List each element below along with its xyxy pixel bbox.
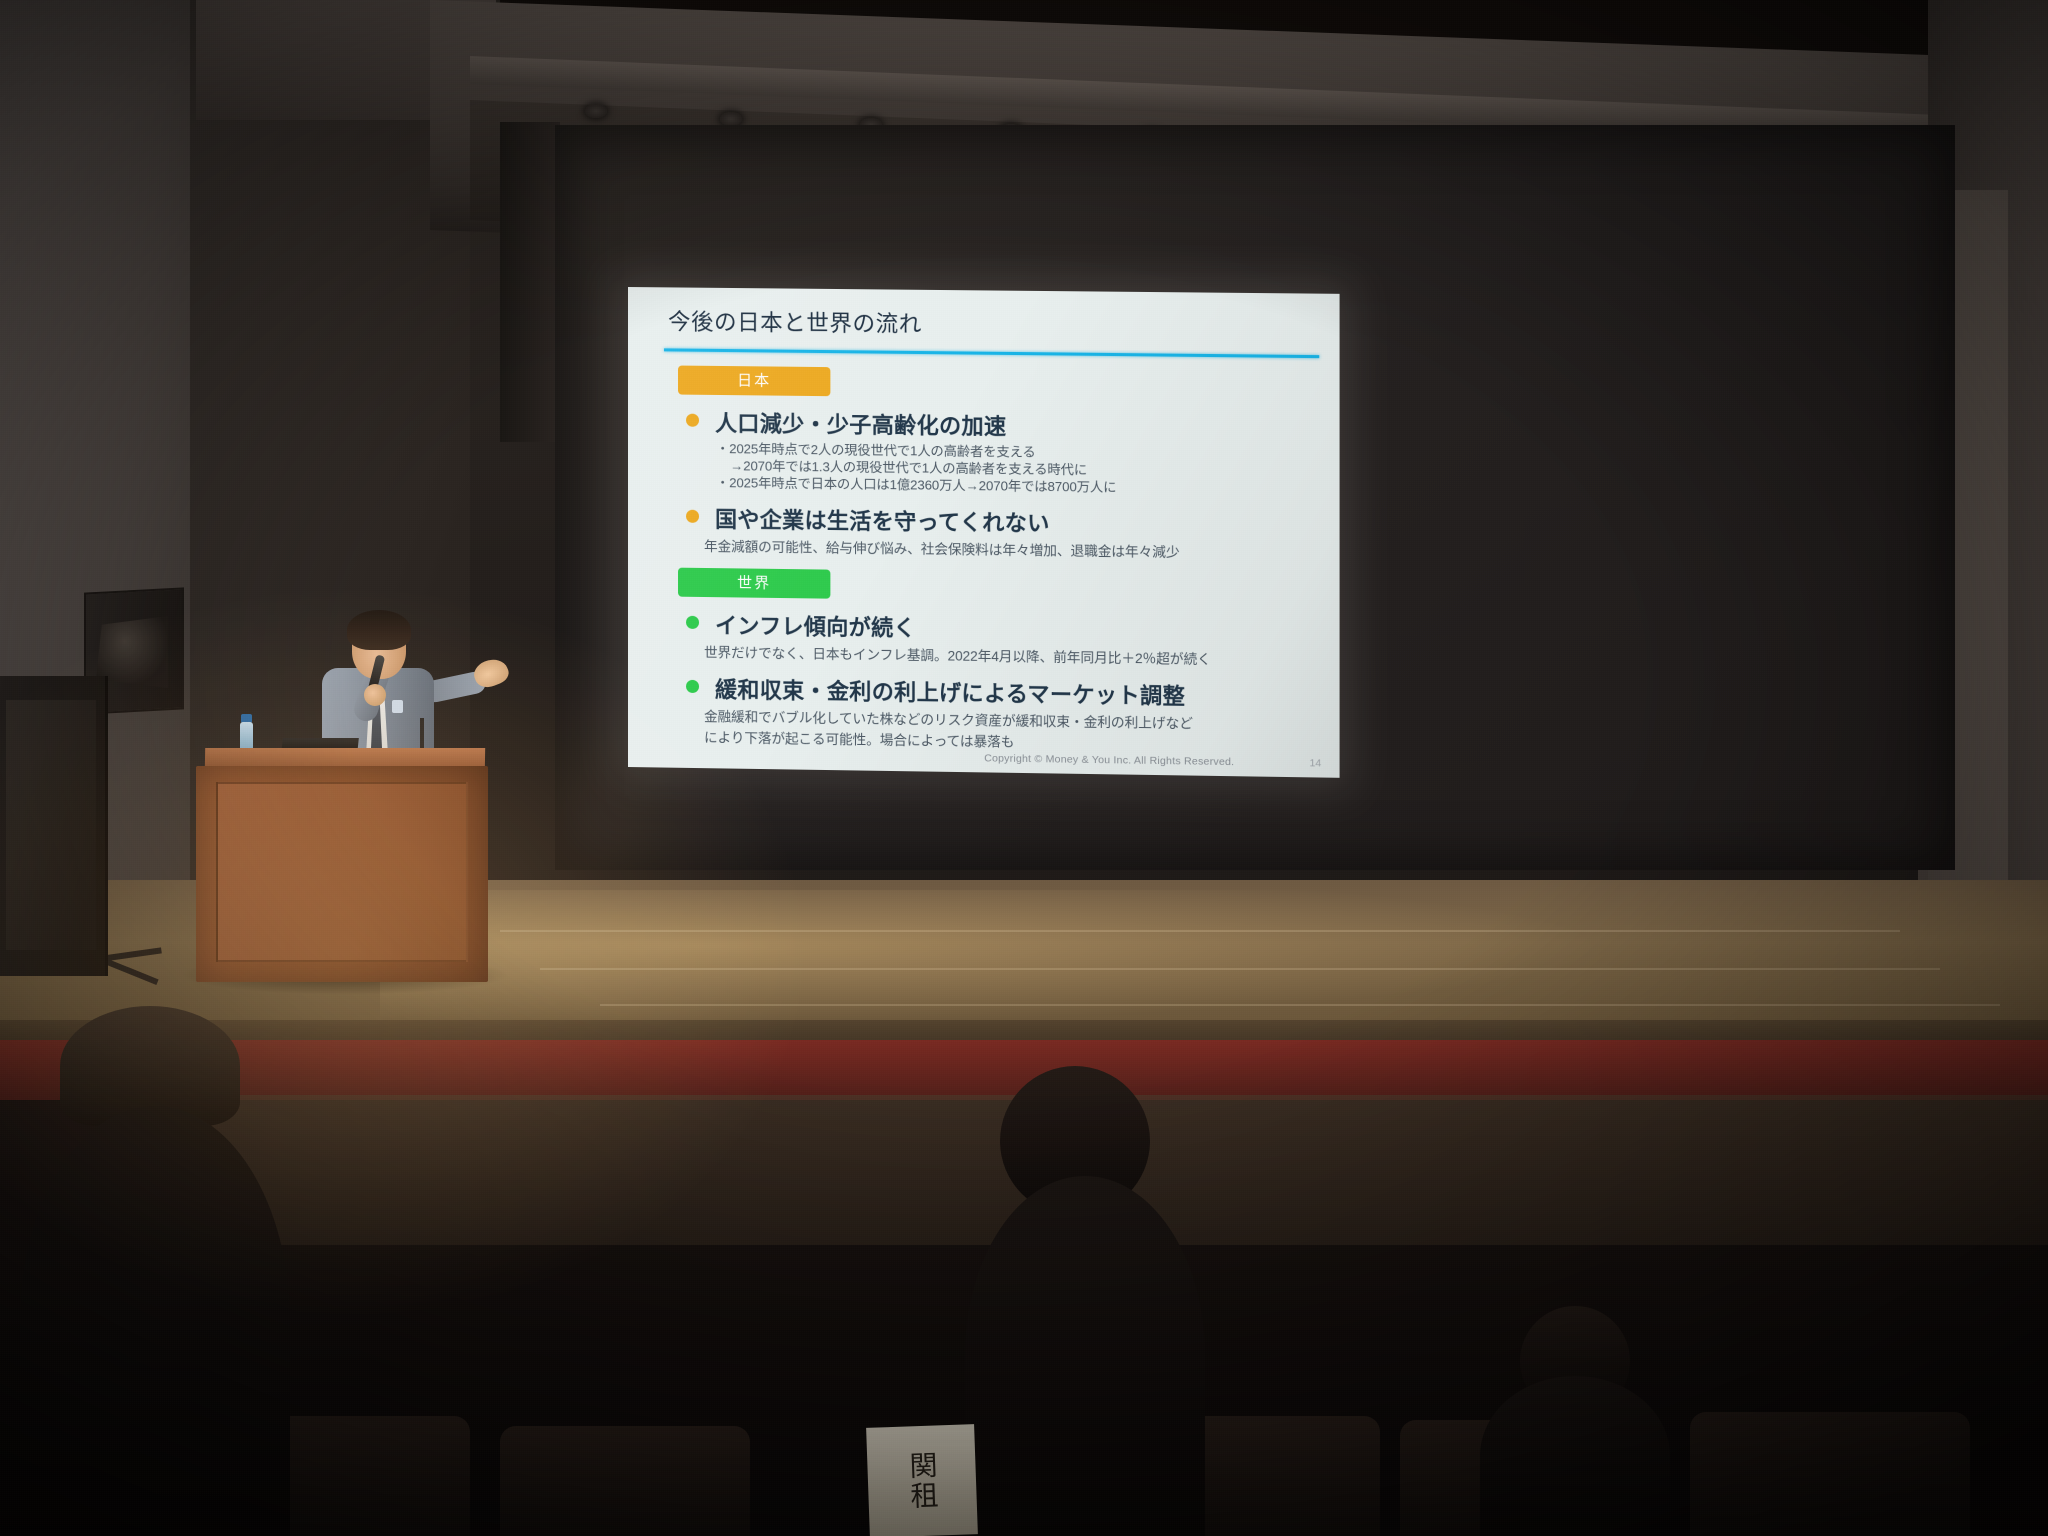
bullet-sublist: ・2025年時点で2人の現役世代で1人の高齢者を支える →2070年では1.3人… bbox=[716, 440, 1325, 499]
slide-title: 今後の日本と世界の流れ bbox=[668, 304, 1325, 343]
presenter-hair bbox=[347, 610, 411, 650]
section-badge-world: 世界 bbox=[678, 568, 830, 599]
bullet-heading: インフレ傾向が続く bbox=[715, 609, 916, 644]
stage-floor-light bbox=[380, 890, 1680, 1030]
seat-row bbox=[1690, 1412, 1970, 1536]
floor-seam bbox=[600, 1004, 2000, 1006]
podium-front-panel bbox=[216, 782, 468, 962]
downlight-icon bbox=[585, 104, 607, 118]
copyright-notice: Copyright © Money & You Inc. All Rights … bbox=[984, 752, 1234, 768]
bullet-dot-icon bbox=[686, 680, 699, 693]
seat-row bbox=[500, 1426, 750, 1536]
audience-member bbox=[965, 1176, 1205, 1536]
bullet-dot-icon bbox=[686, 510, 699, 523]
audience-placard: 関租 bbox=[866, 1424, 978, 1536]
bullet-heading: 人口減少・少子高齢化の加速 bbox=[715, 406, 1006, 441]
screen-left-edge bbox=[500, 122, 560, 442]
pa-speaker-floor-face bbox=[6, 700, 96, 950]
section-japan: 日本 人口減少・少子高齢化の加速 ・2025年時点で2人の現役世代で1人の高齢者… bbox=[642, 351, 1325, 563]
floor-seam bbox=[500, 930, 1900, 932]
downlight-icon bbox=[720, 112, 742, 126]
presentation-slide: 今後の日本と世界の流れ 日本 人口減少・少子高齢化の加速 ・2025年時点で2人… bbox=[628, 287, 1340, 778]
bullet-heading: 緩和収束・金利の利上げによるマーケット調整 bbox=[715, 673, 1185, 712]
floor-seam bbox=[540, 968, 1940, 970]
bullet-dot-icon bbox=[686, 616, 699, 629]
photo-scene: 今後の日本と世界の流れ 日本 人口減少・少子高齢化の加速 ・2025年時点で2人… bbox=[0, 0, 2048, 1536]
slide-page-number: 14 bbox=[1309, 757, 1321, 769]
podium-mic-stand bbox=[420, 718, 424, 752]
audience-member bbox=[20, 1106, 290, 1536]
audience-member bbox=[1480, 1376, 1670, 1536]
bullet-heading: 国や企業は生活を守ってくれない bbox=[715, 503, 1050, 539]
section-world: 世界 インフレ傾向が続く 世界だけでなく、日本もインフレ基調。2022年4月以降… bbox=[642, 555, 1325, 756]
presenter-right-hand bbox=[364, 684, 386, 706]
bullet-item: 人口減少・少子高齢化の加速 bbox=[686, 406, 1325, 445]
presenter-badge bbox=[392, 700, 403, 713]
bullet-dot-icon bbox=[686, 414, 699, 427]
placard-text: 関租 bbox=[907, 1451, 937, 1512]
section-badge-japan: 日本 bbox=[678, 366, 830, 397]
